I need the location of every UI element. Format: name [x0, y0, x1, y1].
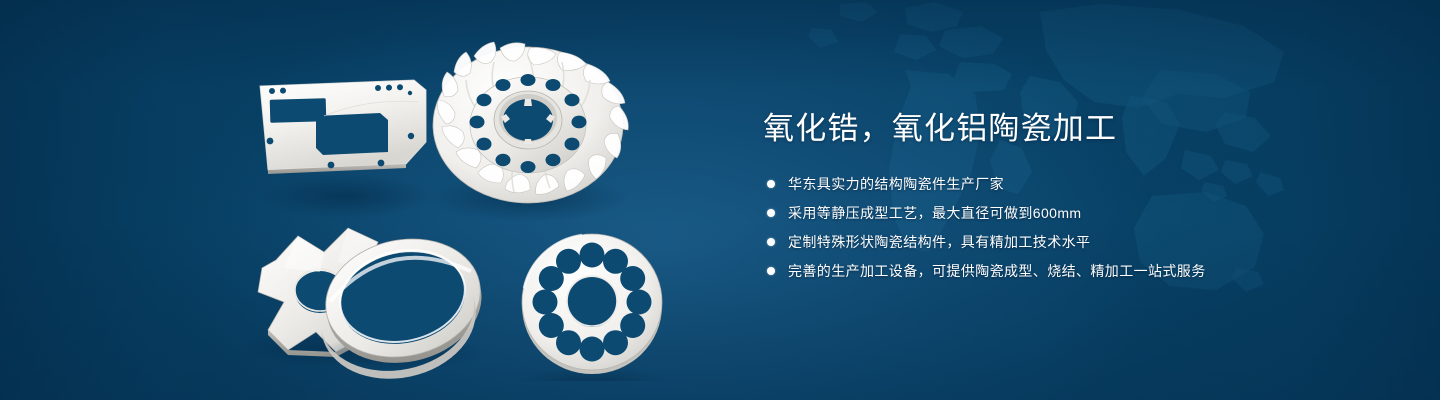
banner-copy: 氧化锆，氧化铝陶瓷加工 华东具实力的结构陶瓷件生产厂家 采用等静压成型工艺，最大…: [763, 110, 1323, 288]
feature-text: 完善的生产加工设备，可提供陶瓷成型、烧结、精加工一站式服务: [788, 259, 1206, 283]
bullet-dot-icon: [767, 238, 775, 246]
list-item: 完善的生产加工设备，可提供陶瓷成型、烧结、精加工一站式服务: [763, 259, 1323, 283]
bullet-dot-icon: [767, 180, 775, 188]
bullet-dot-icon: [767, 267, 775, 275]
ceramic-perforated-disc: [514, 234, 670, 381]
feature-text: 华东具实力的结构陶瓷件生产厂家: [788, 172, 1004, 196]
bullet-dot-icon: [767, 209, 775, 217]
feature-list: 华东具实力的结构陶瓷件生产厂家 采用等静压成型工艺，最大直径可做到600mm 定…: [763, 172, 1323, 283]
ceramic-plate-with-cutouts: [258, 80, 434, 218]
list-item: 采用等静压成型工艺，最大直径可做到600mm: [763, 201, 1323, 225]
ceramic-impeller-disc: [428, 42, 628, 222]
product-photo: [228, 36, 698, 381]
feature-text: 采用等静压成型工艺，最大直径可做到600mm: [788, 201, 1081, 225]
feature-text: 定制特殊形状陶瓷结构件，具有精加工技术水平: [788, 230, 1090, 254]
page-title: 氧化锆，氧化铝陶瓷加工: [763, 110, 1323, 148]
list-item: 定制特殊形状陶瓷结构件，具有精加工技术水平: [763, 230, 1323, 254]
hero-banner: 氧化锆，氧化铝陶瓷加工 华东具实力的结构陶瓷件生产厂家 采用等静压成型工艺，最大…: [0, 0, 1440, 400]
list-item: 华东具实力的结构陶瓷件生产厂家: [763, 172, 1323, 196]
